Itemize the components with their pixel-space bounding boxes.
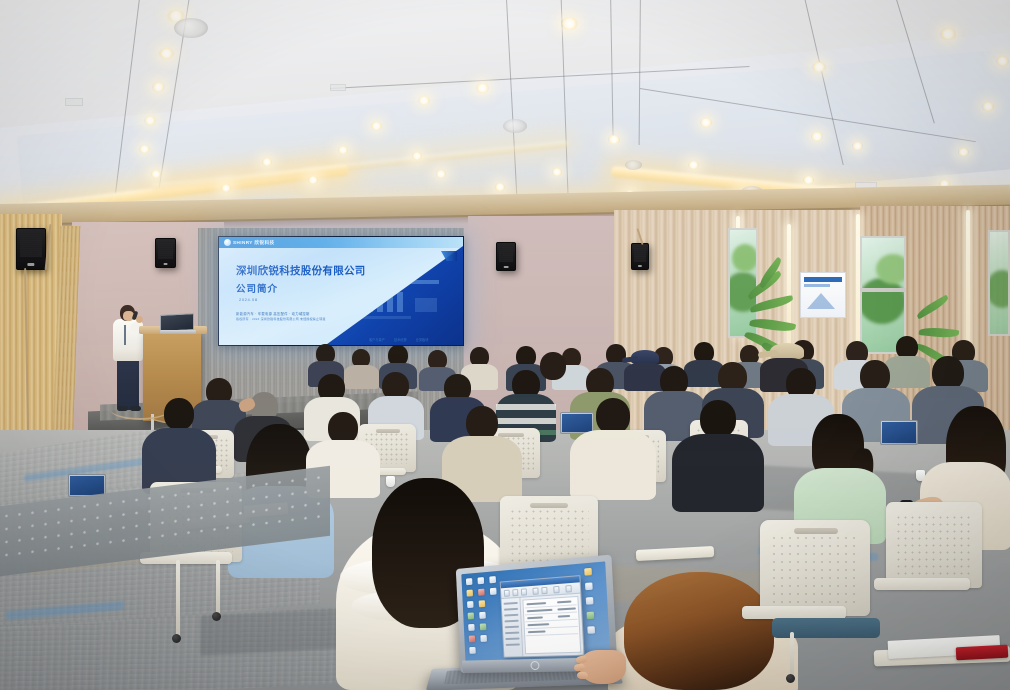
red-phone xyxy=(956,645,1009,661)
downlight xyxy=(811,132,823,141)
attendee-head xyxy=(596,398,630,434)
hp-logo-icon xyxy=(530,661,539,670)
paper-cup xyxy=(386,476,395,487)
attendee-head xyxy=(540,352,566,380)
speaker-logo xyxy=(638,265,642,267)
desktop-icon[interactable] xyxy=(489,576,496,583)
desktop-icon[interactable] xyxy=(479,612,486,619)
toolbar-button[interactable] xyxy=(541,587,547,594)
toolbar-button[interactable] xyxy=(565,585,572,593)
grid-row xyxy=(526,626,578,629)
downlight xyxy=(982,102,994,111)
circuit-bar xyxy=(367,288,373,312)
toolbar-button[interactable] xyxy=(504,590,510,597)
sidebar-row[interactable] xyxy=(504,614,518,617)
conference-room-photo: SHINRY 欣锐科技 深圳欣锐科技股份有限公司 公司简介 2024.08 新能… xyxy=(0,0,1010,690)
downlight xyxy=(812,62,826,72)
application-window[interactable] xyxy=(500,575,585,658)
attendee-torso xyxy=(570,430,656,500)
slide-subtitle: 公司简介 xyxy=(236,281,278,295)
chair-armrest xyxy=(874,578,970,590)
laptop-screen xyxy=(882,422,916,443)
grid-row xyxy=(525,619,577,623)
downlight xyxy=(371,122,382,130)
sidebar-row[interactable] xyxy=(504,620,518,623)
wall-speaker xyxy=(631,243,649,270)
laptop-screen xyxy=(562,414,592,432)
sidebar-row[interactable] xyxy=(504,602,518,605)
slide-footer-nav: 客户与量产 技术优势 业务板块 xyxy=(369,337,428,342)
plant-leaf xyxy=(749,316,796,334)
downlight xyxy=(700,118,712,127)
desktop-icon[interactable] xyxy=(480,623,487,630)
desktop-icon[interactable] xyxy=(586,597,594,605)
desktop-icon[interactable] xyxy=(468,624,475,631)
presenter-lanyard xyxy=(124,325,126,345)
toolbar-button[interactable] xyxy=(521,588,527,595)
grid-text xyxy=(527,616,543,618)
chair-handle xyxy=(376,429,400,433)
attendee-head xyxy=(700,400,736,438)
downlight xyxy=(418,96,430,105)
window-mullion xyxy=(860,288,906,292)
circuit-bar xyxy=(397,292,403,312)
foliage xyxy=(732,244,758,272)
speaker-grille xyxy=(634,246,646,262)
toolbar-button[interactable] xyxy=(532,587,538,594)
speaker-grille xyxy=(499,245,513,262)
desktop-icon[interactable] xyxy=(469,647,476,654)
downlight xyxy=(476,83,489,93)
downlight xyxy=(495,183,505,191)
wall-poster xyxy=(800,272,846,318)
foliage xyxy=(988,270,1010,308)
ceiling-speaker xyxy=(174,18,208,38)
chair-perforation xyxy=(770,534,860,604)
foliage xyxy=(876,254,906,284)
downlight xyxy=(152,82,165,92)
wall-speaker xyxy=(16,228,46,270)
slide-footer-item: 客户与量产 xyxy=(369,337,385,342)
sidebar-row[interactable] xyxy=(505,626,519,629)
grid-text xyxy=(526,602,546,605)
downlight xyxy=(338,146,348,154)
chair-seat xyxy=(772,618,880,638)
chair-caster xyxy=(172,634,181,643)
desktop-icon[interactable] xyxy=(584,568,592,576)
grid-text xyxy=(558,615,570,617)
circuit-line xyxy=(409,280,439,284)
desktop-icon[interactable] xyxy=(480,635,487,642)
poster-subbar xyxy=(804,284,830,287)
ceiling-speaker xyxy=(503,119,527,133)
chair-caster xyxy=(212,612,221,621)
poster-header-bar xyxy=(804,277,842,282)
downlight xyxy=(958,148,969,156)
slide-graphic-wedge xyxy=(323,246,463,345)
desktop-icon[interactable] xyxy=(490,588,497,595)
desktop-icon[interactable] xyxy=(477,577,484,584)
ceiling-vent xyxy=(330,84,346,91)
chair-leg xyxy=(216,560,220,616)
downlight xyxy=(139,145,150,153)
grid-text xyxy=(528,623,550,626)
finger xyxy=(574,663,586,671)
presentation-slide: SHINRY 欣锐科技 深圳欣锐科技股份有限公司 公司简介 2024.08 新能… xyxy=(219,237,463,345)
laptop-lid xyxy=(880,420,918,445)
desktop-icon[interactable] xyxy=(585,582,593,590)
attendee-torso xyxy=(672,434,764,512)
downlight xyxy=(552,168,562,176)
chair-handle xyxy=(530,503,568,508)
toolbar-button[interactable] xyxy=(512,589,518,596)
downlight xyxy=(561,17,578,30)
chair-back xyxy=(886,502,982,588)
user-hand xyxy=(580,650,626,684)
company-logo-text: SHINRY 欣锐科技 xyxy=(233,240,275,246)
desktop-icon[interactable] xyxy=(479,600,486,607)
downlight xyxy=(412,152,422,160)
desktop-icon[interactable] xyxy=(466,578,473,585)
speaker-grille xyxy=(158,241,172,258)
foreground-laptop[interactable] xyxy=(430,562,620,690)
window-mid-pane xyxy=(860,236,906,354)
window-right-pane xyxy=(988,230,1010,336)
downlight xyxy=(852,142,863,150)
speaker-logo xyxy=(504,266,509,268)
sidebar-row[interactable] xyxy=(505,632,519,635)
chair-back xyxy=(760,520,870,616)
desktop-icon[interactable] xyxy=(587,626,595,634)
downlight xyxy=(151,170,161,178)
attendee-torso xyxy=(884,356,930,388)
chair-leg xyxy=(790,632,794,678)
grid-text xyxy=(528,630,546,632)
laptop-screen[interactable] xyxy=(461,561,610,660)
circuit-bar xyxy=(377,288,383,312)
chair-perforation xyxy=(895,514,973,578)
presenter-hand xyxy=(136,316,143,323)
foliage xyxy=(860,278,906,324)
attendee-torso xyxy=(344,365,379,389)
downlight xyxy=(996,56,1009,66)
projection-screen: SHINRY 欣锐科技 深圳欣锐科技股份有限公司 公司简介 2024.08 新能… xyxy=(218,236,464,346)
laptop-screen xyxy=(70,476,104,495)
ceiling-vent xyxy=(65,98,83,106)
downlight xyxy=(262,158,272,166)
grid-text xyxy=(557,600,571,603)
slide-corner-accent xyxy=(441,251,457,261)
finger xyxy=(577,672,588,680)
chair-caster xyxy=(786,674,795,683)
desktop-icon[interactable] xyxy=(468,612,475,619)
slide-footer-item: 业务板块 xyxy=(416,337,429,342)
downlight xyxy=(159,48,174,59)
company-logo-icon xyxy=(224,239,231,246)
speaker-logo xyxy=(163,263,168,265)
slide-meta-line-2: 版权所有 · 2024 深圳欣锐科技股份有限公司 未经授权禁止转载 xyxy=(236,317,326,321)
slide-footer-item: 技术优势 xyxy=(394,337,407,342)
slide-meta-line-1: 新能源汽车 · 车载电源 高压配件 · 动力域控制 xyxy=(236,311,310,316)
shirt-stripe xyxy=(496,418,556,424)
desktop-icon[interactable] xyxy=(478,589,485,596)
slide-logo-bar: SHINRY 欣锐科技 xyxy=(219,237,463,248)
circuit-line xyxy=(359,279,385,282)
wall-speaker xyxy=(496,242,516,271)
downlight xyxy=(803,176,814,184)
downlight xyxy=(436,170,446,178)
downlight xyxy=(221,184,231,192)
circuit-line xyxy=(353,316,411,319)
chair-leg xyxy=(176,560,180,638)
desktop-icon[interactable] xyxy=(587,612,595,620)
wall-speaker xyxy=(155,238,176,268)
speaker-grille xyxy=(20,232,41,257)
downlight xyxy=(308,176,318,184)
grid-text xyxy=(527,609,553,612)
slide-date: 2024.08 xyxy=(239,297,258,302)
attendee-head xyxy=(932,356,964,390)
plant-leaf xyxy=(919,326,960,339)
attendee-head xyxy=(466,406,498,440)
attendee-head xyxy=(164,398,194,430)
sidebar-row[interactable] xyxy=(506,643,520,645)
toolbar-button[interactable] xyxy=(553,586,559,594)
desktop-icon[interactable] xyxy=(467,601,474,608)
ceiling-speaker xyxy=(625,160,642,170)
speaker-logo xyxy=(27,263,34,266)
circuit-block xyxy=(415,298,437,312)
data-grid[interactable] xyxy=(522,596,581,654)
plant-leaf xyxy=(749,295,794,313)
slide-title: 深圳欣锐科技股份有限公司 xyxy=(236,263,366,278)
downlight xyxy=(608,135,620,144)
downlight xyxy=(688,161,699,169)
grid-row xyxy=(526,633,578,636)
chair-handle xyxy=(794,528,838,534)
window-sidebar[interactable] xyxy=(502,598,524,657)
poster-graphic xyxy=(807,293,835,309)
attendee-hair-auburn-bob xyxy=(624,572,774,690)
podium-laptop-base xyxy=(160,330,196,334)
shirt-stripe xyxy=(496,404,556,410)
laptop-bezel xyxy=(461,561,610,660)
sidebar-row[interactable] xyxy=(504,608,518,611)
grid-text xyxy=(557,607,575,610)
sidebar-row[interactable] xyxy=(505,638,519,641)
desktop-icon[interactable] xyxy=(466,590,473,597)
circuit-bar xyxy=(387,288,393,312)
downlight xyxy=(940,28,956,40)
downlight xyxy=(144,116,156,125)
desktop-icon[interactable] xyxy=(469,635,476,642)
